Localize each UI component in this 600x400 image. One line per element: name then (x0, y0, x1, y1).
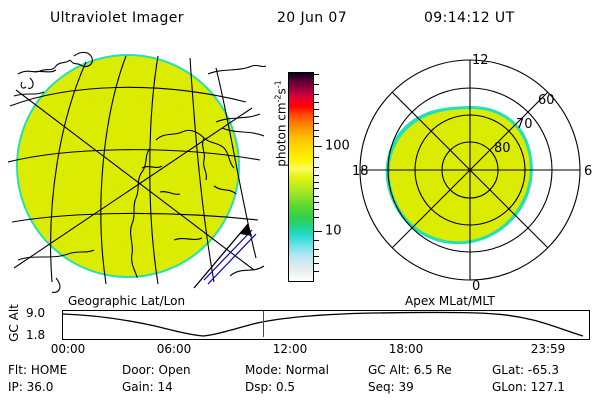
mlt-label-6: 6 (584, 164, 592, 179)
status-field-label: Door: (122, 363, 159, 377)
status-field-label: Seq: (368, 380, 398, 394)
colorbar-minor-tick (313, 196, 319, 197)
status-field: GLon: 127.1 (492, 380, 565, 394)
colorbar-minor-tick (313, 116, 319, 117)
colorbar-minor-tick (313, 182, 319, 183)
colorbar-major-tick (313, 231, 322, 232)
status-field-label: Mode: (245, 363, 286, 377)
colorbar-minor-tick (313, 271, 319, 272)
colorbar-minor-tick (313, 249, 319, 250)
header-bar: Ultraviolet Imager 20 Jun 07 09:14:12 UT (0, 4, 600, 30)
current-time-marker (263, 311, 264, 337)
status-field-label: IP: (8, 380, 27, 394)
mlat-label-70: 70 (516, 117, 533, 132)
colorbar-minor-tick (313, 94, 319, 95)
altitude-x-tick-label: 18:00 (389, 342, 424, 356)
status-field-label: Flt: (8, 363, 31, 377)
colorbar-minor-tick (313, 136, 319, 137)
geographic-globe (8, 44, 266, 294)
alt-ytick-low: 1.8 (26, 328, 45, 342)
colorbar-minor-tick (313, 202, 319, 203)
colorbar-minor-tick (313, 256, 319, 257)
status-field-value: HOME (31, 363, 67, 377)
altitude-x-tick-label: 00:00 (51, 342, 86, 356)
colorbar-minor-tick (313, 102, 319, 103)
status-field: GLat: -65.3 (492, 363, 559, 377)
status-field: Flt: HOME (8, 363, 67, 377)
instrument-title: Ultraviolet Imager (50, 10, 184, 26)
status-field-value: -65.3 (528, 363, 559, 377)
colorbar-minor-tick (313, 74, 319, 75)
status-field: IP: 36.0 (8, 380, 53, 394)
status-field-value: Normal (286, 363, 329, 377)
colorbar-minor-tick (313, 109, 319, 110)
status-field-label: Dsp: (245, 380, 276, 394)
colorbar-minor-tick (313, 123, 319, 124)
caption-geographic: Geographic Lat/Lon (68, 294, 185, 308)
status-field-value: 127.1 (531, 380, 565, 394)
status-field-value: 0.5 (276, 380, 295, 394)
status-field: Mode: Normal (245, 363, 329, 377)
caption-apex: Apex MLat/MLT (405, 294, 495, 308)
mlt-label-12: 12 (472, 53, 489, 68)
colorbar-minor-tick (313, 209, 319, 210)
mlat-label-60: 60 (538, 93, 555, 108)
observation-date: 20 Jun 07 (277, 10, 347, 26)
status-field: Door: Open (122, 363, 191, 377)
colorbar-minor-tick (313, 84, 319, 85)
status-field-label: Gain: (122, 380, 157, 394)
status-footer: Flt: HOMEDoor: OpenMode: NormalGC Alt: 6… (0, 363, 600, 399)
observation-time: 09:14:12 UT (424, 10, 515, 26)
mlat-label-80: 80 (494, 141, 511, 156)
altitude-plot-box (62, 310, 590, 340)
status-field: Seq: 39 (368, 380, 414, 394)
apex-polar-plot: 12 6 0 18 60 70 80 (352, 42, 598, 294)
gc-alt-axis-label: GC Alt (7, 298, 21, 348)
status-field-value: 36.0 (27, 380, 54, 394)
colorbar-panel: photon cm-2s-1 10010 (268, 60, 352, 294)
status-field: Gain: 14 (122, 380, 173, 394)
status-field-label: GLat: (492, 363, 528, 377)
altitude-timeline-panel: Geographic Lat/Lon Apex MLat/MLT GC Alt … (0, 294, 600, 356)
altitude-x-tick-label: 12:00 (273, 342, 308, 356)
mlt-label-0: 0 (472, 279, 480, 294)
apex-polar-panel: 12 6 0 18 60 70 80 (352, 42, 598, 294)
colorbar-minor-tick (313, 263, 319, 264)
mlt-label-18: 18 (352, 164, 369, 179)
altitude-curve (63, 311, 587, 337)
colorbar-minor-tick (313, 188, 319, 189)
colorbar-major-tick (313, 146, 322, 147)
status-field-label: GLon: (492, 380, 531, 394)
status-field: Dsp: 0.5 (245, 380, 295, 394)
status-field-value: 14 (157, 380, 172, 394)
colorbar-minor-tick (313, 175, 319, 176)
colorbar-minor-tick (313, 240, 319, 241)
status-field-label: GC Alt: (368, 363, 414, 377)
colorbar-minor-tick (313, 167, 319, 168)
colorbar-gradient (288, 72, 314, 282)
status-field-value: Open (159, 363, 191, 377)
altitude-x-tick-label: 06:00 (157, 342, 192, 356)
altitude-x-tick-label: 23:59 (531, 342, 566, 356)
status-field: GC Alt: 6.5 Re (368, 363, 452, 377)
colorbar-minor-tick (313, 217, 319, 218)
colorbar-axis-label: photon cm-2s-1 (274, 59, 289, 189)
geographic-image-panel (8, 44, 266, 294)
status-field-value: 39 (398, 380, 413, 394)
colorbar-tick-label: 100 (325, 138, 350, 153)
colorbar-minor-tick (313, 157, 319, 158)
colorbar-tick-label: 10 (325, 224, 342, 239)
colorbar-minor-tick (313, 130, 319, 131)
alt-ytick-high: 9.0 (26, 306, 45, 320)
status-field-value: 6.5 Re (414, 363, 452, 377)
